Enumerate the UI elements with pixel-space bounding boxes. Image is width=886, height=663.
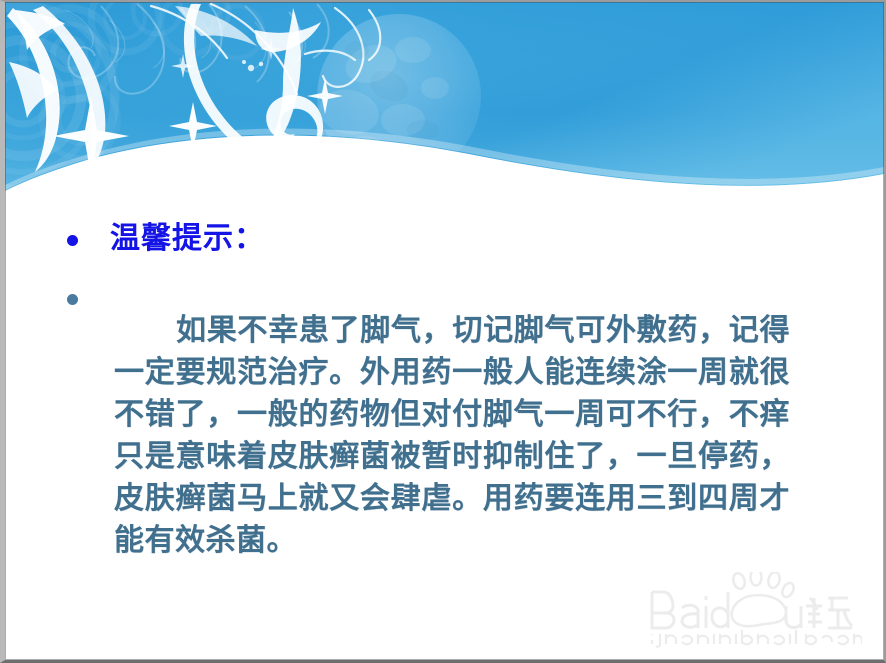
bullet-dot-icon (67, 235, 78, 246)
watermark-brand-text (646, 572, 852, 628)
page-title: 温馨提示： (110, 219, 265, 259)
paragraph-bullet-row: 如果不幸患了脚气，切记脚气可外敷药，记得一定要规范治疗。外用药一般人能连续涂一周… (67, 280, 827, 592)
slide-header-banner (5, 2, 884, 202)
heading-bullet-row: 温馨提示： (67, 219, 265, 259)
watermark-url-text (652, 630, 862, 647)
presentation-slide: 温馨提示： 如果不幸患了脚气，切记脚气可外敷药，记得一定要规范治疗。外用药一般人… (0, 0, 886, 663)
body-paragraph: 如果不幸患了脚气，切记脚气可外敷药，记得一定要规范治疗。外用药一般人能连续涂一周… (114, 310, 790, 562)
baidu-experience-watermark (646, 572, 862, 648)
bullet-dot-icon (67, 294, 78, 305)
